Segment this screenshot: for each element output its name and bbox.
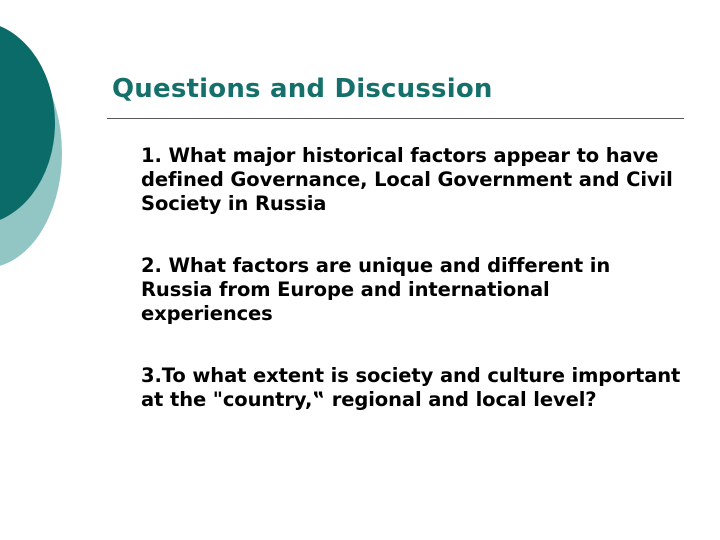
decorative-circle-light-teal [0, 38, 62, 268]
decorative-circle-dark-teal [0, 21, 55, 225]
question-paragraph-3: 3.To what extent is society and culture … [141, 364, 686, 412]
question-paragraph-1: 1. What major historical factors appear … [141, 144, 686, 216]
question-paragraph-2: 2. What factors are unique and different… [141, 254, 686, 326]
slide-body: 1. What major historical factors appear … [141, 144, 686, 412]
slide-title: Questions and Discussion [112, 74, 493, 104]
presentation-slide: Questions and Discussion 1. What major h… [0, 0, 720, 540]
title-divider-rule [107, 118, 684, 119]
